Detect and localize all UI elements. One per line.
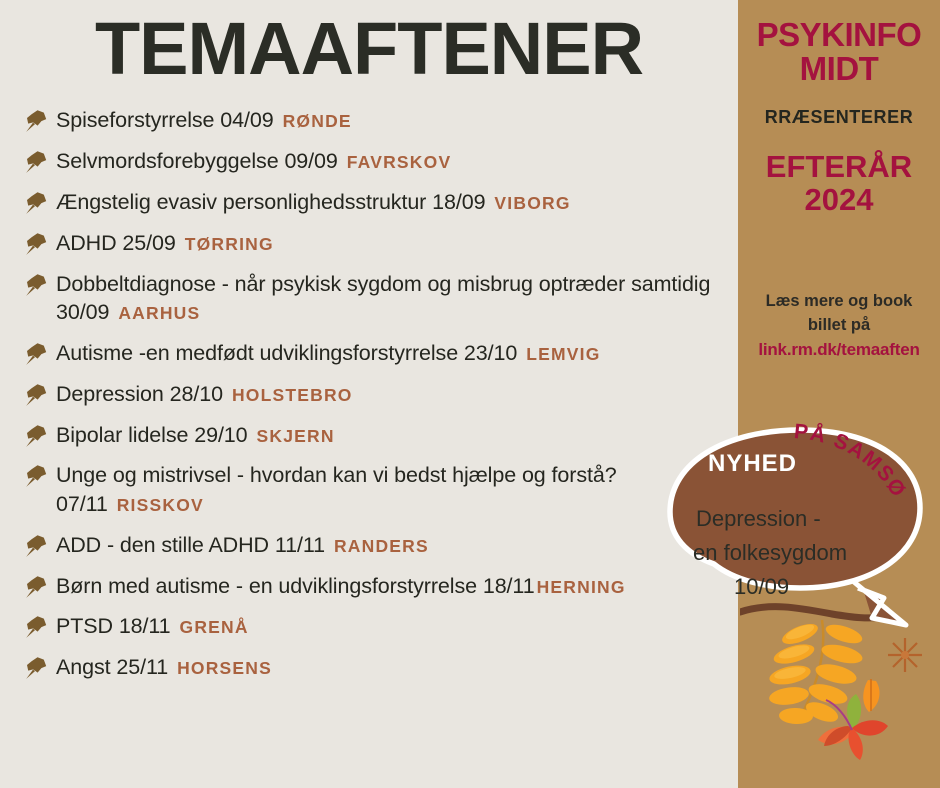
season-line-1: EFTERÅR: [744, 150, 934, 183]
event-city: SKJERN: [257, 426, 335, 446]
pushpin-icon: [22, 655, 50, 681]
list-item-text: PTSD 18/11GRENÅ: [56, 612, 249, 640]
list-item-text: Selvmordsforebyggelse 09/09FAVRSKOV: [56, 147, 451, 175]
list-item-text: Børn med autisme - en udviklingsforstyrr…: [56, 572, 626, 600]
list-item[interactable]: Spiseforstyrrelse 04/09RØNDE: [22, 106, 738, 134]
list-item[interactable]: Børn med autisme - en udviklingsforstyrr…: [22, 572, 738, 600]
event-city: FAVRSKOV: [347, 152, 452, 172]
news-speech-bubble[interactable]: NYHED Depression - en folkesygdom 10/09 …: [658, 420, 940, 640]
event-title: PTSD 18/11: [56, 614, 171, 638]
list-item[interactable]: Dobbeltdiagnose - når psykisk sygdom og …: [22, 270, 738, 327]
booking-info: Læs mere og book billet på: [744, 289, 934, 339]
event-title: Autisme -en medfødt udviklingsforstyrrel…: [56, 341, 517, 365]
booking-info-line-2: billet på: [744, 313, 934, 338]
list-item[interactable]: Ængstelig evasiv personlighedsstruktur 1…: [22, 188, 738, 216]
pushpin-icon: [22, 574, 50, 600]
event-city: GRENÅ: [180, 617, 249, 637]
pushpin-icon: [22, 614, 50, 640]
list-item-text: Autisme -en medfødt udviklingsforstyrrel…: [56, 339, 601, 367]
list-item[interactable]: ADD - den stille ADHD 11/11RANDERS: [22, 531, 738, 559]
list-item[interactable]: Unge og mistrivsel - hvordan kan vi beds…: [22, 461, 738, 518]
event-title: ADD - den stille ADHD 11/11: [56, 533, 325, 557]
list-item[interactable]: Bipolar lidelse 29/10SKJERN: [22, 421, 738, 449]
event-city: RØNDE: [283, 111, 352, 131]
event-title: Børn med autisme - en udviklingsforstyrr…: [56, 574, 535, 598]
list-item[interactable]: ADHD 25/09TØRRING: [22, 229, 738, 257]
pushpin-icon: [22, 463, 50, 489]
list-item-text: Unge og mistrivsel - hvordan kan vi beds…: [56, 461, 738, 518]
list-item-text: Spiseforstyrrelse 04/09RØNDE: [56, 106, 352, 134]
season-line-2: 2024: [744, 183, 934, 216]
pushpin-icon: [22, 272, 50, 298]
list-item-text: ADHD 25/09TØRRING: [56, 229, 274, 257]
event-city: HOLSTEBRO: [232, 385, 353, 405]
page-title: TEMAAFTENER: [0, 6, 738, 91]
presents-label: RRÆSENTERER: [744, 107, 934, 128]
list-item[interactable]: PTSD 18/11GRENÅ: [22, 612, 738, 640]
event-city: HERNING: [537, 577, 626, 597]
samso-arc-text: PÅ SAMSØ: [793, 420, 910, 502]
pushpin-icon: [22, 149, 50, 175]
event-title: ADHD 25/09: [56, 231, 176, 255]
pushpin-icon: [22, 533, 50, 559]
booking-info-line-1: Læs mere og book: [744, 289, 934, 314]
event-city: VIBORG: [494, 193, 570, 213]
list-item[interactable]: Depression 28/10HOLSTEBRO: [22, 380, 738, 408]
event-list: Spiseforstyrrelse 04/09RØNDE Selvmordsfo…: [22, 106, 738, 694]
event-title: Selvmordsforebyggelse 09/09: [56, 149, 338, 173]
pushpin-icon: [22, 108, 50, 134]
event-title: Angst 25/11: [56, 655, 168, 679]
event-title: Spiseforstyrrelse 04/09: [56, 108, 274, 132]
list-item-text: Dobbeltdiagnose - når psykisk sygdom og …: [56, 270, 738, 327]
pushpin-icon: [22, 231, 50, 257]
event-city: LEMVIG: [526, 344, 600, 364]
season-label: EFTERÅR 2024: [744, 150, 934, 217]
sidebar-panel: PSYKINFO MIDT RRÆSENTERER EFTERÅR 2024 L…: [738, 0, 940, 788]
event-title: Depression 28/10: [56, 382, 223, 406]
event-city: HORSENS: [177, 658, 272, 678]
brand-name: PSYKINFO MIDT: [744, 18, 934, 87]
event-city: RISSKOV: [117, 495, 204, 515]
brand-line-1: PSYKINFO: [744, 18, 934, 52]
list-item-text: Ængstelig evasiv personlighedsstruktur 1…: [56, 188, 571, 216]
list-item-text: Bipolar lidelse 29/10SKJERN: [56, 421, 335, 449]
list-item[interactable]: Angst 25/11HORSENS: [22, 653, 738, 681]
brand-line-2: MIDT: [744, 52, 934, 86]
list-item-text: ADD - den stille ADHD 11/11RANDERS: [56, 531, 429, 559]
pushpin-icon: [22, 423, 50, 449]
poster-canvas: PSYKINFO MIDT RRÆSENTERER EFTERÅR 2024 L…: [0, 0, 940, 788]
event-title: Bipolar lidelse 29/10: [56, 423, 248, 447]
list-item[interactable]: Autisme -en medfødt udviklingsforstyrrel…: [22, 339, 738, 367]
samso-arc-label: PÅ SAMSØ: [658, 420, 940, 640]
pushpin-icon: [22, 382, 50, 408]
booking-link[interactable]: link.rm.dk/temaaften: [744, 340, 934, 360]
list-item-text: Angst 25/11HORSENS: [56, 653, 272, 681]
event-city: AARHUS: [118, 303, 200, 323]
event-title: Ængstelig evasiv personlighedsstruktur 1…: [56, 190, 485, 214]
samso-arc-textpath: PÅ SAMSØ: [793, 420, 910, 502]
pushpin-icon: [22, 190, 50, 216]
list-item-text: Depression 28/10HOLSTEBRO: [56, 380, 353, 408]
list-item[interactable]: Selvmordsforebyggelse 09/09FAVRSKOV: [22, 147, 738, 175]
event-city: TØRRING: [185, 234, 274, 254]
pushpin-icon: [22, 341, 50, 367]
event-city: RANDERS: [334, 536, 429, 556]
